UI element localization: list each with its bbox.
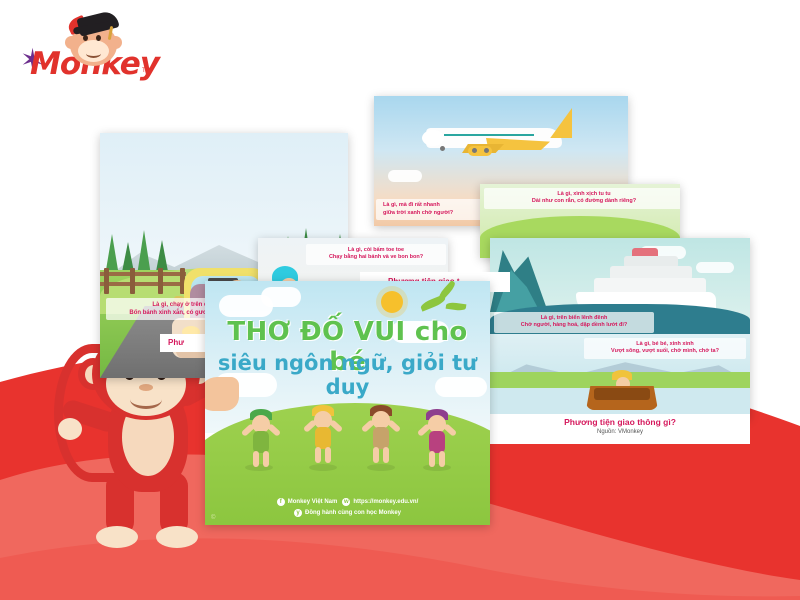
- riddle-text-boat: Là gì, bé bé, xinh xinh Vượt sông, vượt …: [584, 338, 746, 359]
- sea-slide-card[interactable]: Là gì, trên biển lênh đênh Chở người, hà…: [490, 238, 750, 418]
- title-card-footer: fMonkey Việt Nam whttps://monkey.edu.vn/…: [205, 497, 490, 519]
- copyright-mark: ©: [211, 515, 215, 521]
- sun-icon: [381, 291, 403, 313]
- website-icon[interactable]: w: [342, 498, 350, 506]
- title-line-2: siêu ngôn ngữ, giỏi tư duy: [205, 351, 490, 399]
- caption-sea-slide: Phương tiện giao thông gì? Nguồn: VMonke…: [490, 414, 750, 444]
- facebook-label: Monkey Việt Nam: [288, 499, 338, 505]
- kid-figure: [305, 401, 341, 463]
- poster-canvas: ✶ Monkey TM: [0, 0, 800, 600]
- airplane-illustration: [426, 114, 574, 160]
- rowboat-illustration: [586, 370, 658, 410]
- footer-row-2: yĐồng hành cùng con học Monkey: [205, 508, 490, 519]
- monkey-logo[interactable]: ✶ Monkey TM: [14, 12, 156, 82]
- pointing-hand: [205, 377, 239, 411]
- trademark-mark: TM: [142, 68, 151, 74]
- riddle-text-bicycle: Là gì, còi bấm toe toe Chạy bằng hai bán…: [306, 244, 446, 265]
- kid-figure: [419, 405, 455, 467]
- youtube-icon[interactable]: y: [294, 509, 302, 517]
- riddle-text-train: Là gì, xình xịch tu tu Dài như con rắn, …: [484, 188, 680, 209]
- kid-figure: [363, 401, 399, 463]
- riddle-text-ship: Là gì, trên biển lênh đênh Chở người, hà…: [494, 312, 654, 333]
- cloud-shape: [388, 170, 422, 182]
- tagline: Đồng hành cùng con học Monkey: [305, 510, 401, 516]
- website-url[interactable]: https://monkey.edu.vn/: [353, 499, 418, 505]
- footer-row-1: fMonkey Việt Nam whttps://monkey.edu.vn/: [205, 497, 490, 508]
- kid-figure: [243, 405, 279, 467]
- title-slide-card[interactable]: THƠ ĐỐ VUI cho bé siêu ngôn ngữ, giỏi tư…: [205, 281, 490, 525]
- facebook-icon[interactable]: f: [277, 498, 285, 506]
